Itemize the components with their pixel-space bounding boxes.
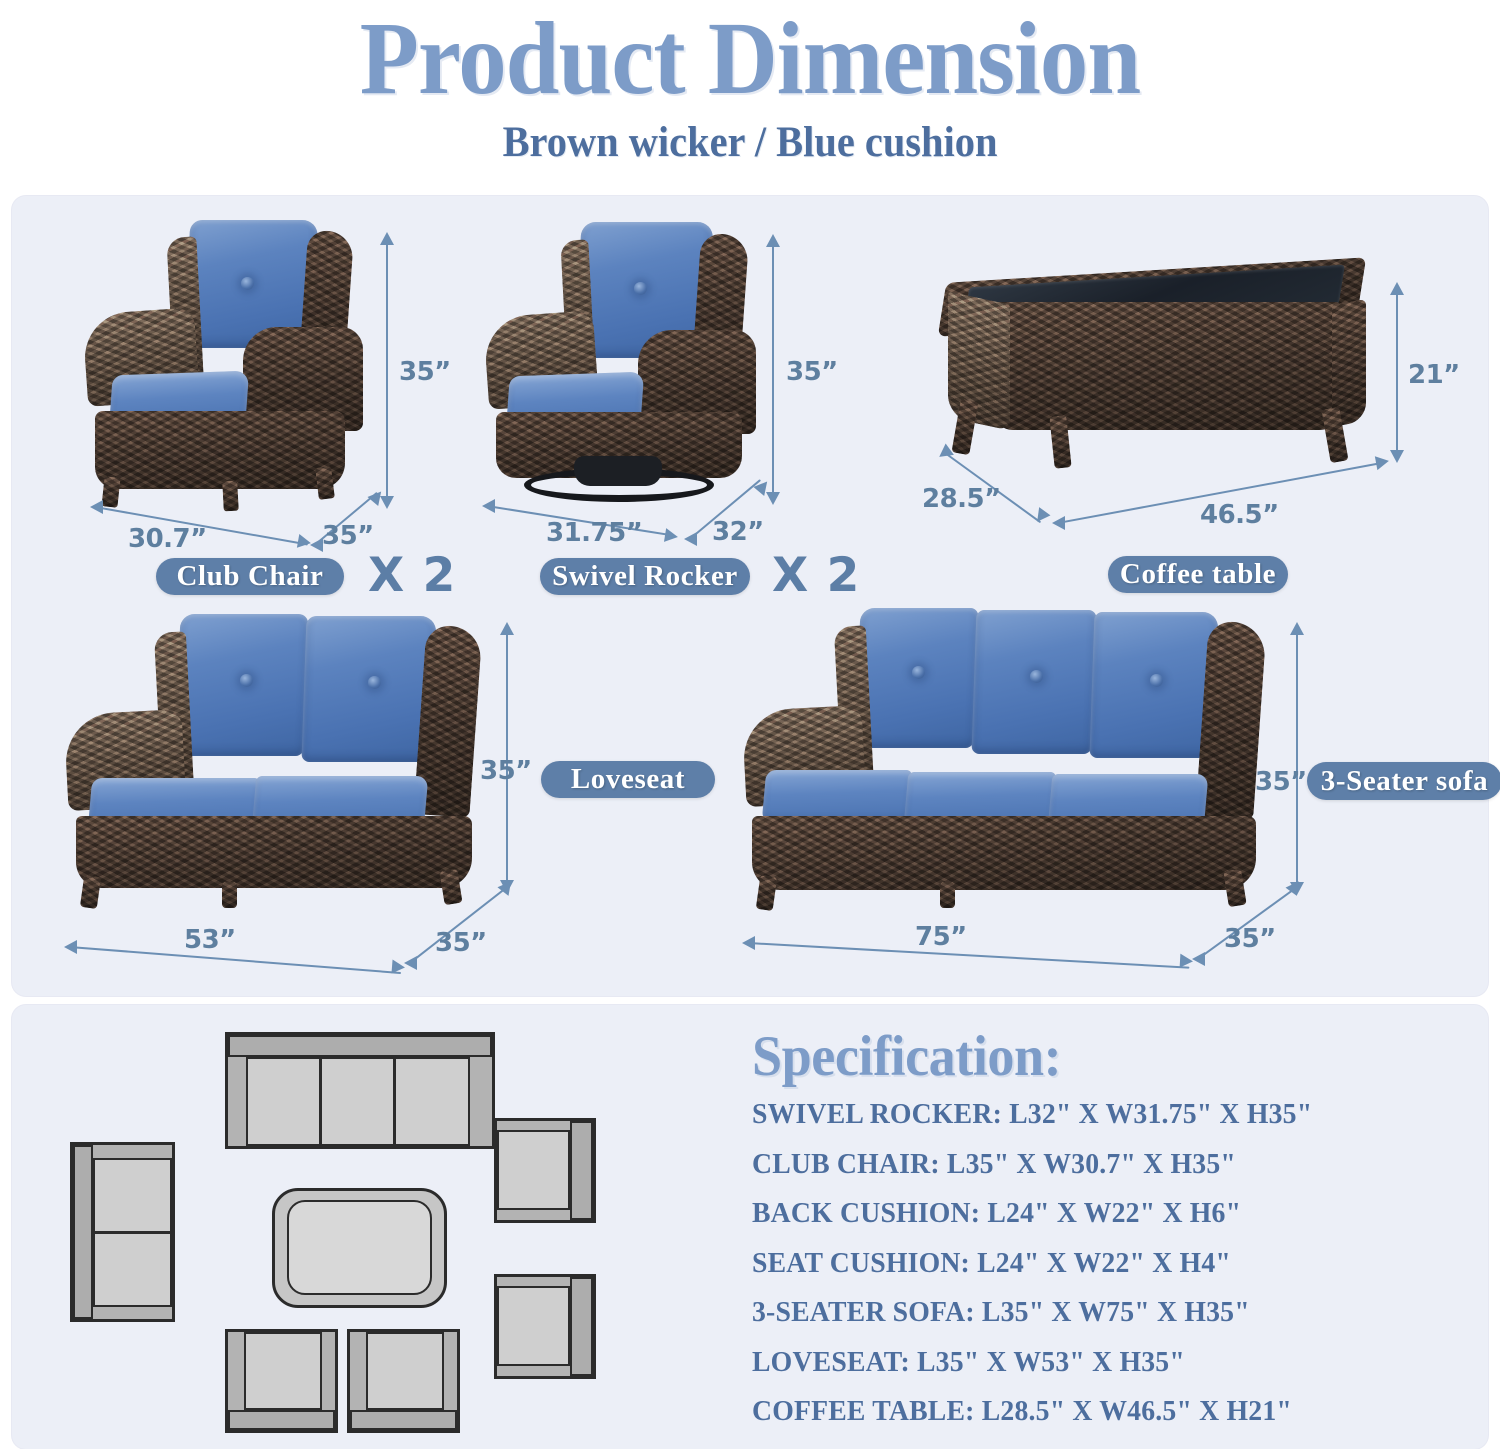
- three-seater-sofa-height-label: 35”: [1255, 767, 1307, 797]
- spec-line-loveseat: LOVESEAT: L35" X W53" X H35": [752, 1347, 1475, 1379]
- club-chair-quantity: X 2: [368, 548, 456, 603]
- three-seater-sofa-width-label: 75”: [915, 922, 967, 952]
- spec-line-seat-cushion: SEAT CUSHION: L24" X W22" X H4": [752, 1248, 1475, 1280]
- loveseat-pill-label: Loveseat: [571, 763, 685, 796]
- specification-title: Specification:: [752, 1024, 1446, 1089]
- spec-line-back-cushion: BACK CUSHION: L24" X W22" X H6": [752, 1198, 1475, 1230]
- loveseat-pill: Loveseat: [541, 761, 715, 798]
- specification-block: Specification: SWIVEL ROCKER: L32" X W31…: [752, 1024, 1482, 1446]
- loveseat-figure: [62, 608, 502, 908]
- loveseat-width-label: 53”: [184, 925, 236, 955]
- spec-line-3-seater-sofa: 3-SEATER SOFA: L35" X W75" X H35": [752, 1297, 1475, 1329]
- loveseat-depth-label: 35”: [435, 928, 487, 958]
- three-seater-sofa-pill-label: 3-Seater sofa: [1321, 765, 1489, 798]
- club-chair-height-label: 35”: [399, 357, 451, 387]
- page-header: Product Dimension Brown wicker / Blue cu…: [0, 0, 1500, 167]
- club-chair-pill: Club Chair: [156, 558, 344, 595]
- swivel-rocker-quantity: X 2: [772, 548, 860, 603]
- spec-line-club-chair: CLUB CHAIR: L35" X W30.7" X H35": [752, 1149, 1475, 1181]
- coffee-table-pill: Coffee table: [1108, 556, 1288, 593]
- layout-diagram: [60, 1018, 730, 1438]
- coffee-table-pill-label: Coffee table: [1120, 558, 1276, 591]
- spec-line-coffee-table: COFFEE TABLE: L28.5" X W46.5" X H21": [752, 1396, 1475, 1428]
- swivel-rocker-pill-label: Swivel Rocker: [552, 560, 738, 593]
- coffee-table-figure: [940, 258, 1370, 488]
- club-chair-pill-label: Club Chair: [176, 560, 323, 593]
- coffee-table-width-label: 46.5”: [1200, 500, 1279, 530]
- coffee-table-depth-label: 28.5”: [922, 484, 1001, 514]
- coffee-table-height-label: 21”: [1408, 360, 1460, 390]
- loveseat-height-label: 35”: [480, 756, 532, 786]
- swivel-rocker-width-label: 31.75”: [546, 518, 642, 548]
- three-seater-sofa-depth-label: 35”: [1224, 924, 1276, 954]
- swivel-rocker-pill: Swivel Rocker: [540, 558, 750, 595]
- swivel-rocker-depth-label: 32”: [712, 517, 764, 547]
- page-title: Product Dimension: [53, 6, 1448, 112]
- three-seater-sofa-pill: 3-Seater sofa: [1307, 762, 1500, 800]
- club-chair-width-label: 30.7”: [128, 524, 207, 554]
- page-subtitle: Brown wicker / Blue cushion: [45, 118, 1455, 167]
- swivel-rocker-height-label: 35”: [786, 357, 838, 387]
- swivel-rocker-figure: [482, 220, 772, 510]
- three-seater-sofa-figure: [740, 604, 1310, 910]
- club-chair-figure: [75, 215, 385, 510]
- spec-line-swivel-rocker: SWIVEL ROCKER: L32" X W31.75" X H35": [752, 1099, 1475, 1131]
- club-chair-depth-label: 35”: [322, 521, 374, 551]
